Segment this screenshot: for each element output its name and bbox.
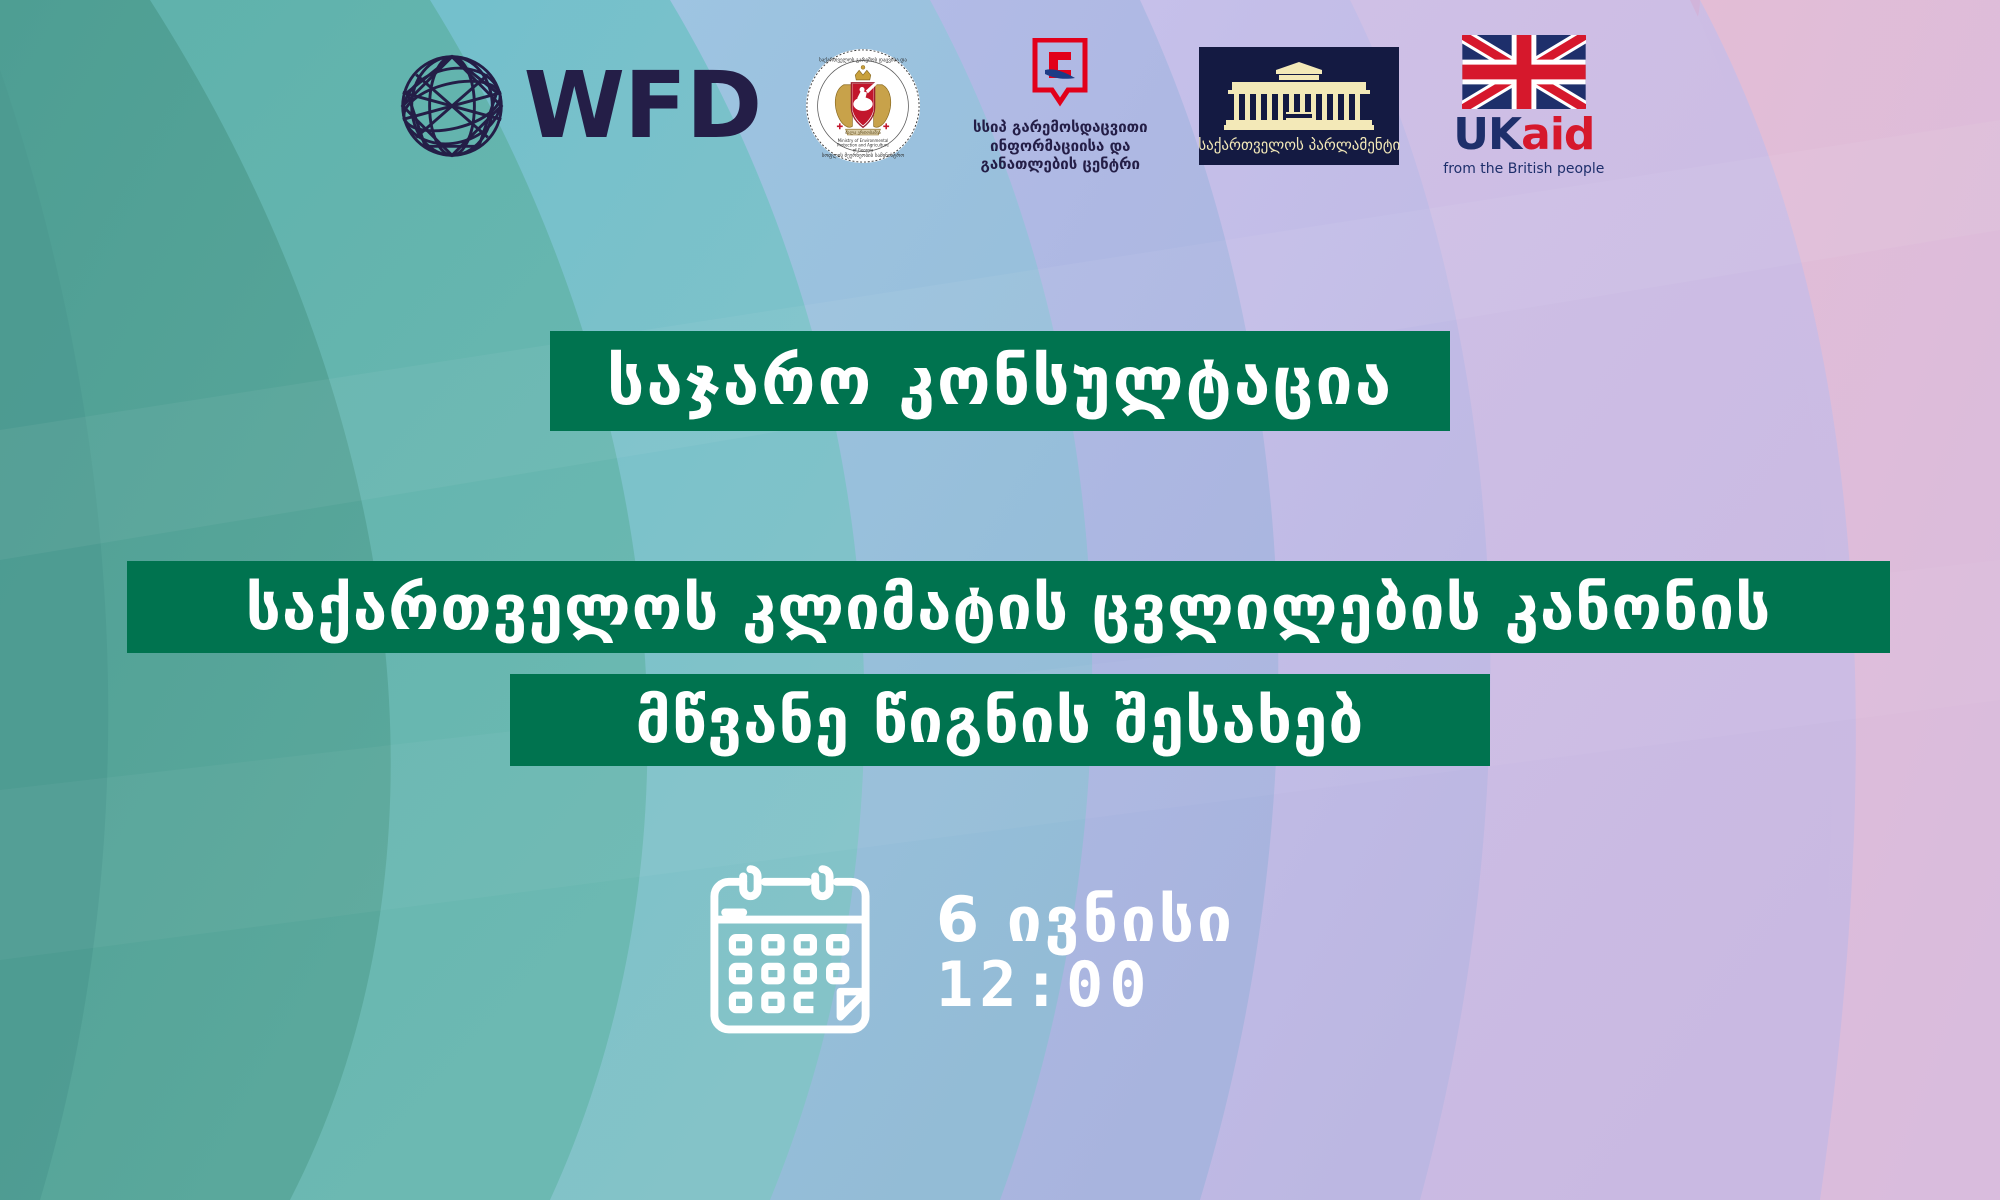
logo-cenn: სსიპ გარემოსდაცვითი ინფორმაციისა და განა…	[965, 38, 1155, 174]
logo-ukaid: UKaid from the British people	[1443, 35, 1604, 177]
parliament-building-icon	[1224, 60, 1374, 134]
ukaid-word-uk: UK	[1453, 109, 1521, 160]
svg-text:საქართველოს გარემოს დაცვისა და: საქართველოს გარემოს დაცვისა და	[819, 57, 907, 64]
ukaid-tagline: from the British people	[1443, 161, 1604, 177]
svg-text:სოფლის მეურნეობის სამინისტრო: სოფლის მეურნეობის სამინისტრო	[822, 152, 905, 159]
georgia-ministry-seal-icon: საქართველოს გარემოს დაცვისა და სოფლის მე…	[805, 48, 921, 164]
svg-text:ძალა ერთობაშია: ძალა ერთობაშია	[845, 131, 881, 136]
partner-logo-bar: WFD საქართველოს გარემოს დაცვისა და სოფლი…	[0, 26, 2000, 186]
svg-text:of Georgia: of Georgia	[853, 147, 874, 152]
wfd-wordmark: WFD	[524, 60, 762, 152]
logo-wfd: WFD	[396, 50, 762, 162]
event-time: 12:00	[936, 952, 1235, 1017]
cenn-mark-icon	[1031, 38, 1089, 110]
event-date: 6 ივნისი	[936, 887, 1235, 952]
poster-canvas: WFD საქართველოს გარემოს დაცვისა და სოფლი…	[0, 0, 2000, 1200]
title-banner-line-1: საქართველოს კლიმატის ცვლილების კანონის	[127, 561, 1890, 653]
ukaid-word-aid: aid	[1521, 109, 1594, 160]
parliament-label: საქართველოს პარლამენტი	[1198, 136, 1400, 154]
ukaid-wordmark: UKaid	[1453, 113, 1594, 157]
logo-ministry: საქართველოს გარემოს დაცვისა და სოფლის მე…	[805, 48, 921, 164]
event-datetime-text: 6 ივნისი 12:00	[936, 887, 1235, 1017]
event-datetime: 6 ივნისი 12:00	[700, 862, 1235, 1042]
union-jack-flag-icon	[1462, 35, 1586, 109]
eyebrow-banner: საჯარო კონსულტაცია	[550, 331, 1450, 431]
title-banner-line-2: მწვანე წიგნის შესახებ	[510, 674, 1490, 766]
logo-parliament: საქართველოს პარლამენტი	[1199, 47, 1399, 165]
cenn-label: სსიპ გარემოსდაცვითი ინფორმაციისა და განა…	[965, 118, 1155, 174]
globe-wireframe-icon	[396, 50, 508, 162]
calendar-icon	[700, 862, 880, 1042]
